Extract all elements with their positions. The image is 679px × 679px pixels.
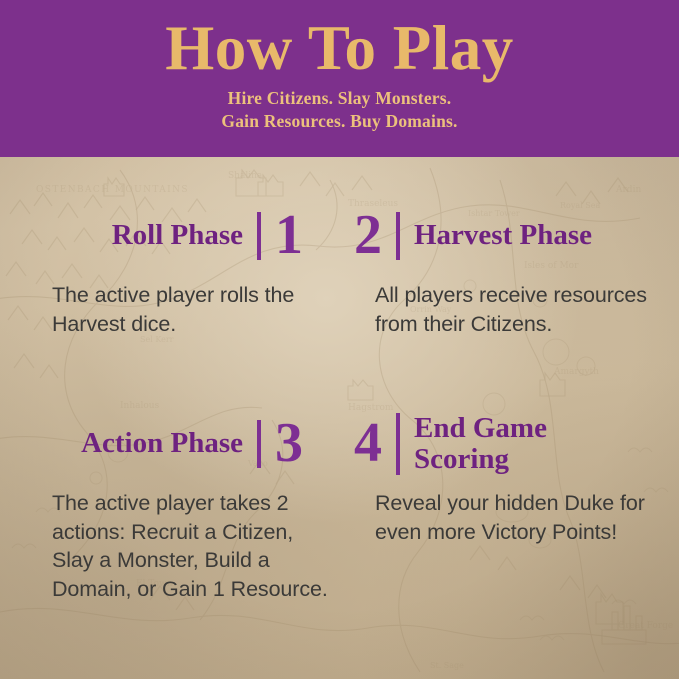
phase-1-heading: Roll Phase 1	[0, 205, 339, 267]
phase-3-divider	[257, 420, 261, 468]
phase-3-number: 3	[275, 418, 303, 470]
phase-2-title: Harvest Phase	[414, 220, 592, 251]
phase-1-number: 1	[275, 210, 303, 262]
phase-2-heading: 2 Harvest Phase	[340, 205, 679, 267]
how-to-play-poster: OSTENBACH MOUNTAINS Shalina Thraseleus A…	[0, 0, 679, 679]
phase-card-3: Action Phase 3 The active player takes 2…	[0, 413, 339, 603]
phase-1-divider	[257, 212, 261, 260]
phase-4-title: End Game Scoring	[414, 413, 564, 476]
phase-3-heading: Action Phase 3	[0, 413, 339, 475]
phase-4-number: 4	[354, 418, 382, 470]
subtitle-line-2: Gain Resources. Buy Domains.	[0, 110, 679, 133]
phase-2-divider	[396, 212, 400, 260]
phase-1-title: Roll Phase	[112, 220, 243, 251]
phase-2-description: All players receive resources from their…	[340, 281, 679, 338]
page-title: How To Play	[0, 0, 679, 80]
phase-4-heading: 4 End Game Scoring	[340, 413, 679, 475]
phase-3-description: The active player takes 2 actions: Recru…	[0, 489, 339, 603]
phase-4-divider	[396, 413, 400, 475]
subtitle-line-1: Hire Citizens. Slay Monsters.	[0, 87, 679, 110]
phase-2-number: 2	[354, 210, 382, 262]
phase-card-2: 2 Harvest Phase All players receive reso…	[340, 205, 679, 338]
phase-3-title: Action Phase	[81, 428, 243, 459]
phase-4-description: Reveal your hidden Duke for even more Vi…	[340, 489, 679, 546]
phase-1-description: The active player rolls the Harvest dice…	[0, 281, 339, 338]
phase-grid: Roll Phase 1 The active player rolls the…	[0, 157, 679, 679]
phase-card-1: Roll Phase 1 The active player rolls the…	[0, 205, 339, 338]
page-subtitle: Hire Citizens. Slay Monsters. Gain Resou…	[0, 87, 679, 134]
header-band: How To Play Hire Citizens. Slay Monsters…	[0, 0, 679, 157]
phase-card-4: 4 End Game Scoring Reveal your hidden Du…	[340, 413, 679, 546]
